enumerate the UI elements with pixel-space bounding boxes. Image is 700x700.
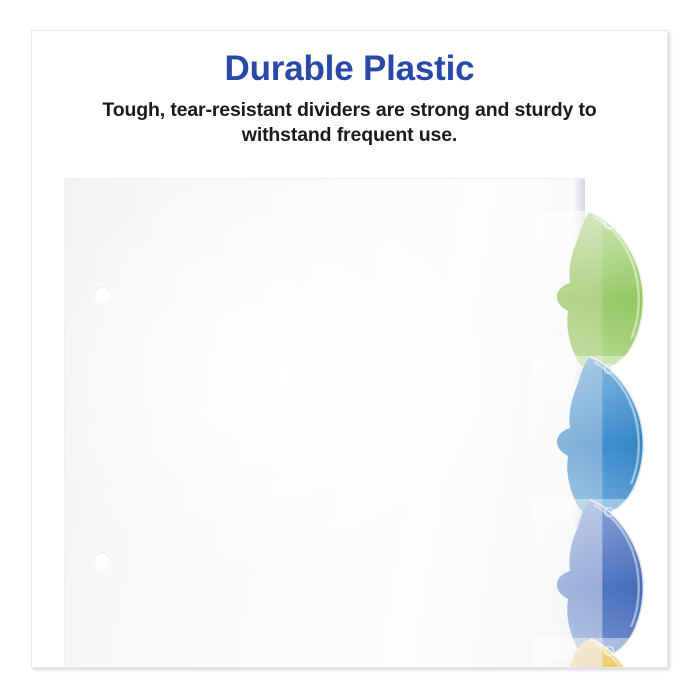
product-image-canvas: Durable Plastic Tough, tear-resistant di…: [0, 0, 700, 700]
tab-green[interactable]: [532, 211, 648, 373]
tab-blue[interactable]: [532, 356, 648, 518]
punch-hole-bottom: [94, 552, 111, 569]
page-subtitle: Tough, tear-resistant dividers are stron…: [60, 98, 640, 148]
tab-blue-gloss: [532, 356, 648, 518]
product-card-frame: Durable Plastic Tough, tear-resistant di…: [31, 30, 668, 668]
divider-sheet: [64, 178, 584, 668]
tab-royal-blue-gloss: [532, 499, 648, 661]
tab-orange[interactable]: [532, 638, 648, 668]
tab-green-gloss: [532, 211, 648, 373]
page-title: Durable Plastic: [32, 48, 667, 90]
punch-hole-top: [94, 286, 111, 303]
tab-royal-blue[interactable]: [532, 499, 648, 661]
tab-orange-gloss: [532, 638, 648, 668]
header-text-block: Durable Plastic Tough, tear-resistant di…: [32, 48, 667, 148]
sheet-gloss-highlight: [65, 179, 584, 668]
divider-tab-column: [532, 178, 668, 668]
